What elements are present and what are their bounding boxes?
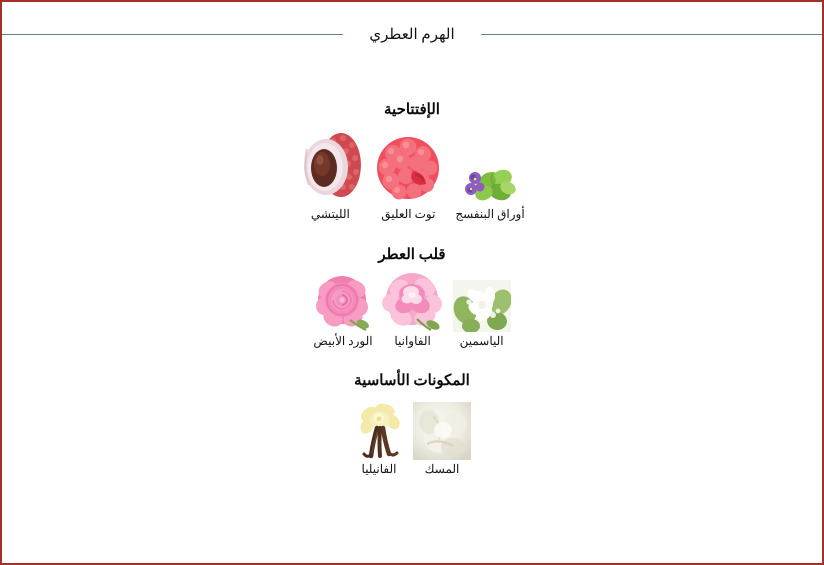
note-row-base: المسك [2,398,822,476]
note-label: أوراق البنفسج [455,207,524,221]
note-item-raspberry[interactable]: توت العليق [369,127,447,221]
note-label: الفانيليا [362,462,397,476]
musk-image [413,402,471,460]
section-title-top-notes: الإفتتاحية [2,100,822,119]
note-item-violet-leaves[interactable]: أوراق البنفسج [455,161,524,221]
section-title-base-notes: المكونات الأساسية [2,371,822,390]
note-label: الفاوانيا [394,334,430,348]
document-page: الهرم العطري الإفتتاحية [0,0,824,565]
violet-leaves-image [462,161,518,205]
section-title-heart-notes: قلب العطر [2,245,822,264]
white-rose-image [316,274,370,332]
note-label: الورد الأبيض [313,334,372,348]
note-label: المسك [425,462,460,476]
note-label: الليتشي [311,207,350,221]
note-item-jasmine[interactable]: الياسمين [453,280,511,348]
peony-image [381,272,445,332]
note-item-lychee[interactable]: الليتشي [299,127,361,221]
note-item-vanilla[interactable]: الفانيليا [353,398,405,476]
page-title: الهرم العطري [343,25,480,44]
section-top-notes: الإفتتاحية [2,100,822,221]
lychee-image [299,127,361,205]
vanilla-image [353,398,405,460]
section-base-notes: المكونات الأساسية [2,371,822,476]
note-item-white-rose[interactable]: الورد الأبيض [313,274,372,348]
note-row-heart: الياسمين [2,272,822,348]
note-label: توت العليق [381,207,435,221]
note-item-musk[interactable]: المسك [413,402,471,476]
document-title-block: الهرم العطري [2,12,822,56]
jasmine-image [453,280,511,332]
section-heart-notes: قلب العطر [2,245,822,348]
note-item-peony[interactable]: الفاوانيا [381,272,445,348]
note-label: الياسمين [460,334,504,348]
note-row-top: أوراق البنفسج [2,127,822,221]
raspberry-image [369,127,447,205]
